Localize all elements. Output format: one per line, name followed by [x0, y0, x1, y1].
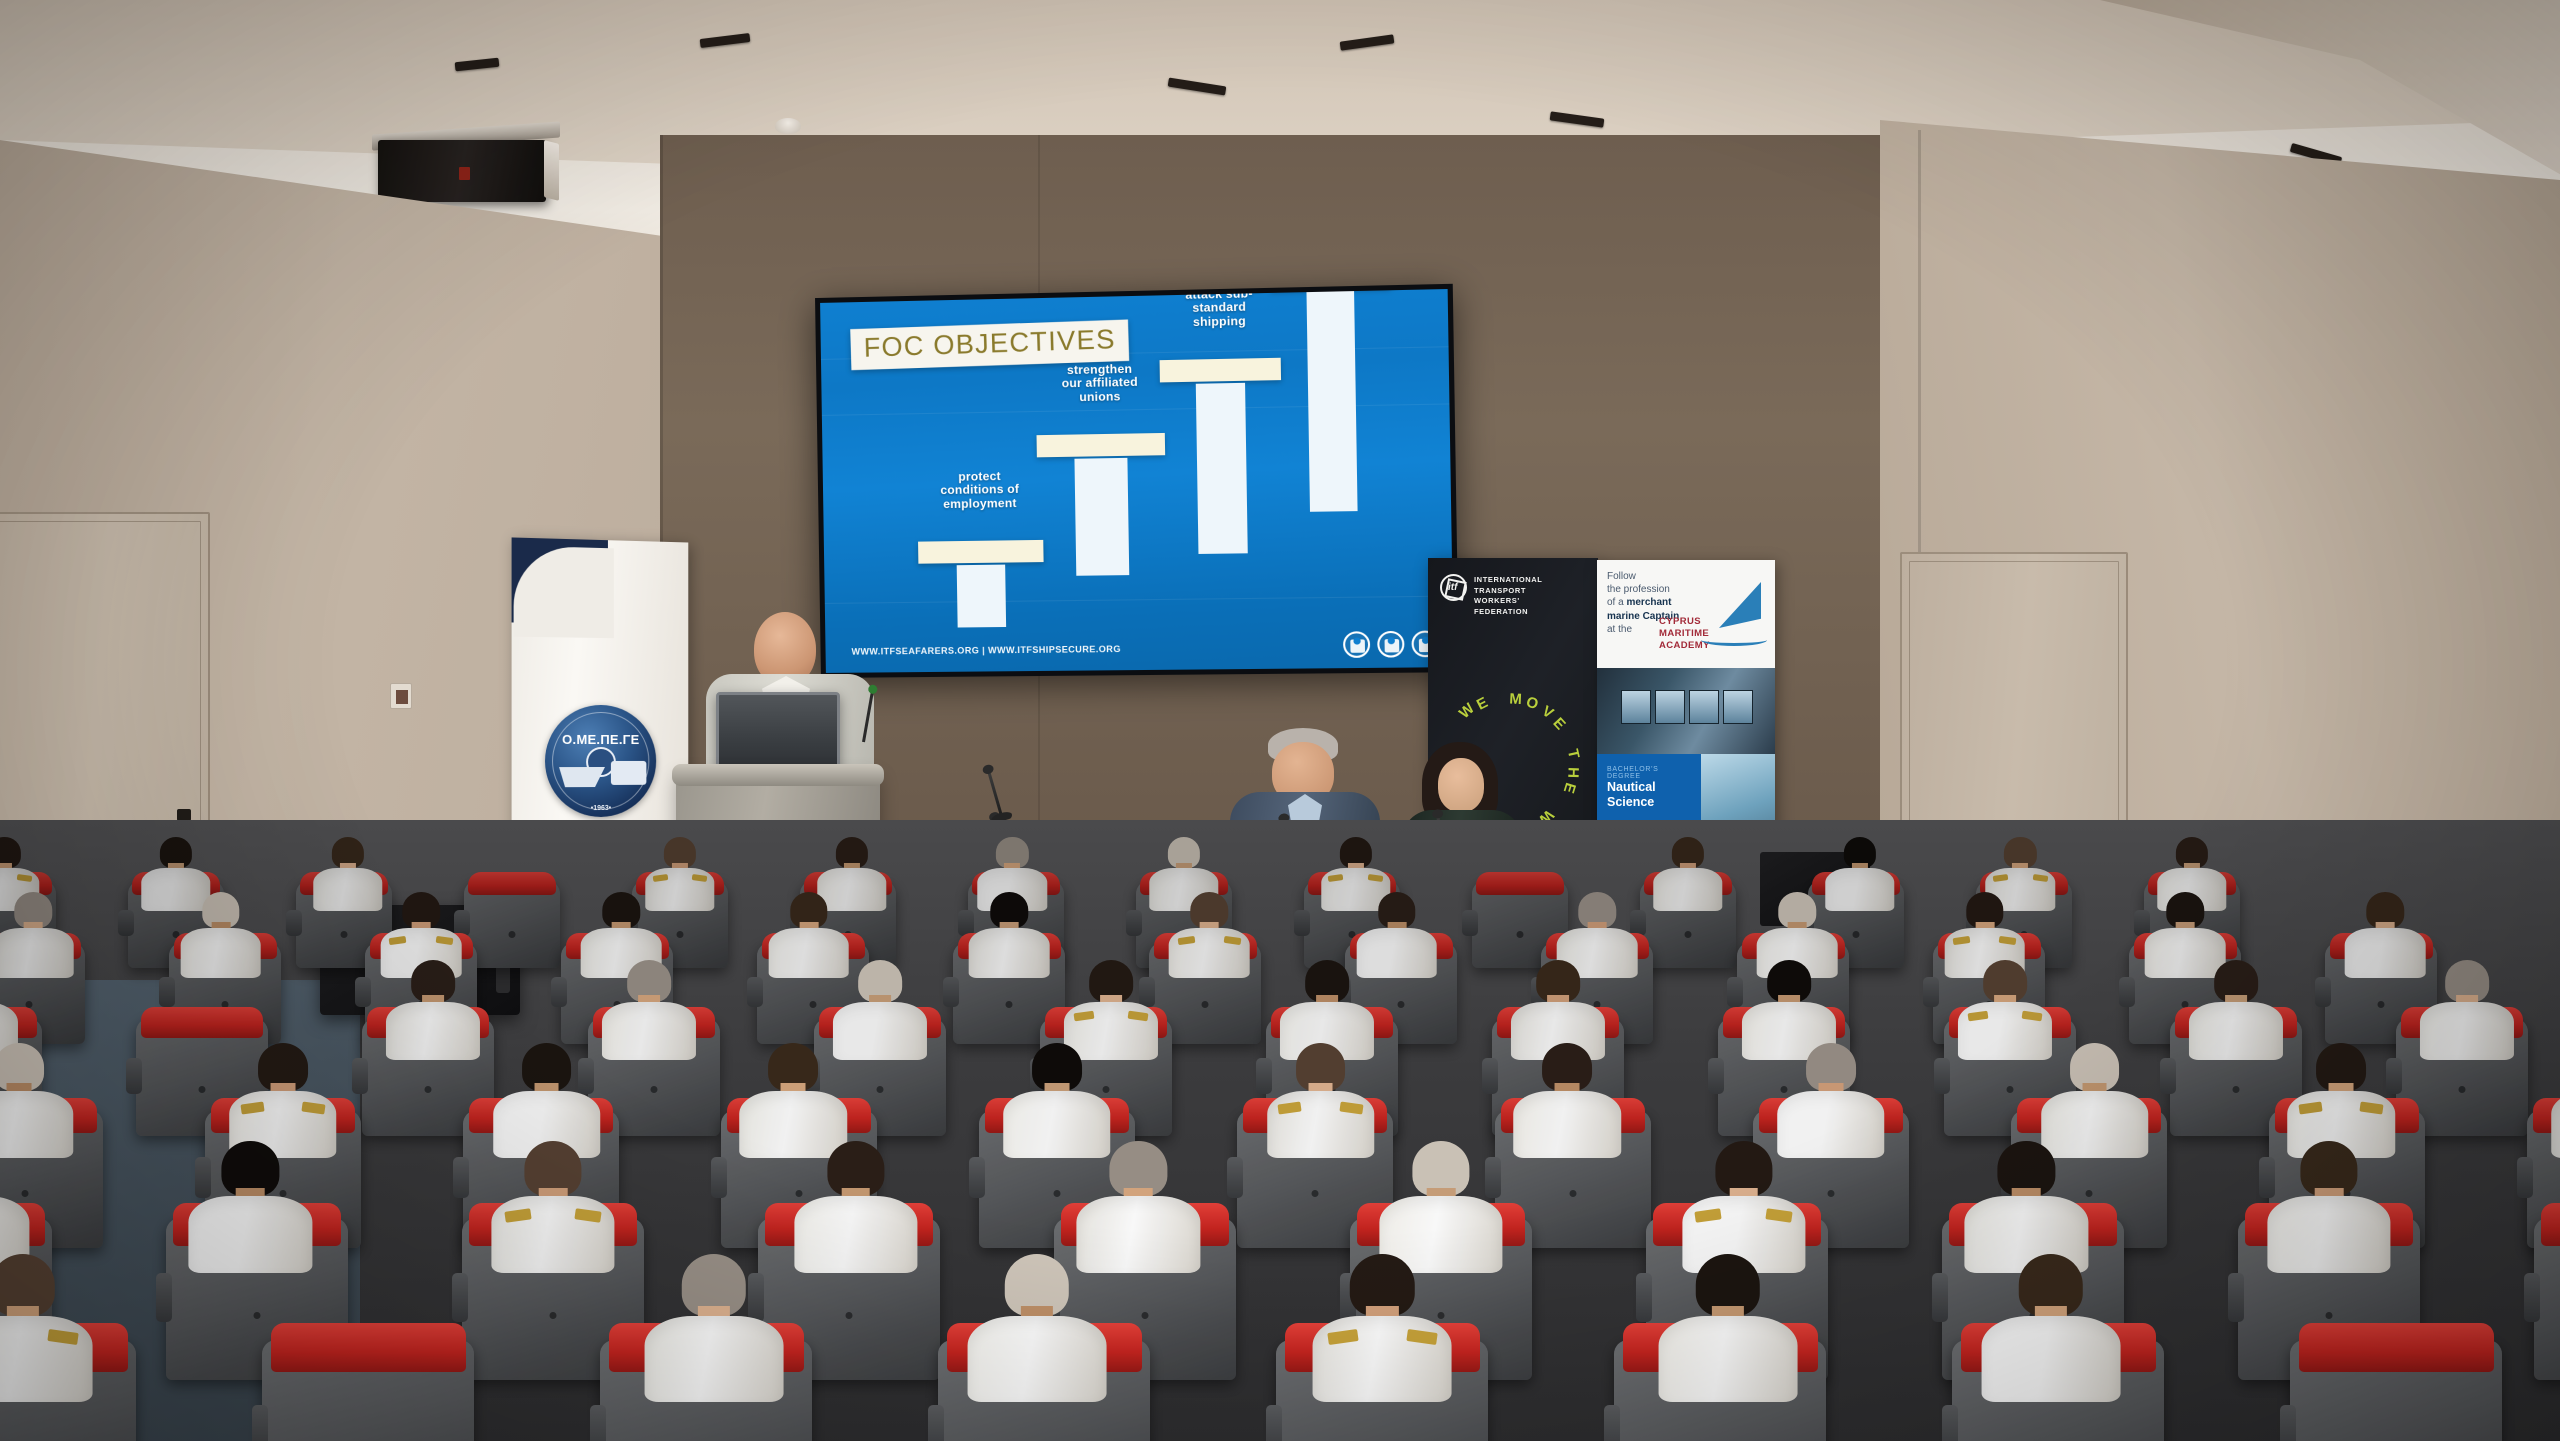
seat-stud-icon — [2233, 1086, 2240, 1093]
seat-armrest — [118, 910, 134, 936]
audience-shirt — [2189, 1002, 2283, 1061]
cyma-bridge-simulator-photo — [1597, 668, 1775, 754]
step-platform — [918, 540, 1044, 564]
seat-armrest — [355, 977, 371, 1008]
projection-screen: FOC OBJECTIVES protect conditions of emp… — [815, 284, 1459, 678]
audience-shirt — [644, 1316, 783, 1403]
audience-shirt — [1169, 928, 1250, 978]
seat-armrest — [747, 977, 763, 1008]
slide-step-1: protect conditions of employment — [911, 373, 1048, 616]
seat-armrest — [1604, 1405, 1620, 1441]
seat-armrest — [1294, 910, 1310, 936]
seat-armrest — [2280, 1405, 2296, 1441]
seat-stud-icon — [1685, 931, 1692, 938]
audience-shirt — [794, 1196, 917, 1273]
itf-slogan-letter: E — [1560, 781, 1579, 796]
audience-member — [1981, 1254, 2120, 1403]
step-arrow-icon — [1306, 291, 1357, 512]
seat-armrest — [1266, 1405, 1282, 1441]
seat-armrest — [2524, 1273, 2540, 1322]
audience-member — [602, 960, 696, 1061]
step-platform — [1160, 358, 1281, 383]
seat-armrest — [1227, 1157, 1243, 1198]
auditorium-photo: FOC OBJECTIVES protect conditions of emp… — [0, 0, 2560, 1441]
audience-member — [2551, 1043, 2560, 1158]
seat-cushion — [271, 1323, 466, 1372]
seat-armrest — [1636, 1273, 1652, 1322]
seat-stud-icon — [1142, 1312, 1149, 1319]
seat-armrest — [551, 977, 567, 1008]
seat-armrest — [2517, 1157, 2533, 1198]
seat-stud-icon — [550, 1312, 557, 1319]
seat-stud-icon — [651, 1086, 658, 1093]
cyma-line-1: Follow — [1607, 570, 1767, 583]
seat-armrest — [943, 977, 959, 1008]
itf-slogan-letter: V — [1539, 702, 1557, 722]
seat-stud-icon — [341, 931, 348, 938]
seat-stud-icon — [2459, 1086, 2466, 1093]
audience-member — [794, 1141, 917, 1273]
audience-member — [2345, 892, 2426, 978]
slide-logo-row — [1343, 630, 1439, 657]
step-label: strengthen our affiliated unions — [1032, 362, 1167, 405]
seat-armrest — [928, 1405, 944, 1441]
seat-armrest — [156, 1273, 172, 1322]
seat-armrest — [1923, 977, 1939, 1008]
audience-member — [644, 1254, 783, 1403]
slide-footer-urls: WWW.ITFSEAFARERS.ORG | WWW.ITFSHIPSECURE… — [851, 644, 1120, 657]
itf-org-name: INTERNATIONAL TRANSPORT WORKERS' FEDERAT… — [1474, 574, 1543, 618]
audience-member — [1267, 1043, 1375, 1158]
cyma-headline-block: Follow the profession of a merchant mari… — [1597, 560, 1775, 668]
seat-stud-icon — [254, 1312, 261, 1319]
seat-stud-icon — [509, 931, 516, 938]
auditorium-seat[interactable] — [464, 880, 560, 968]
seat-armrest — [711, 1157, 727, 1198]
seat-stud-icon — [1569, 1190, 1576, 1197]
seat-armrest — [1482, 1058, 1498, 1093]
audience-shirt — [189, 1196, 312, 1273]
banner-swoosh-graphic — [512, 537, 608, 624]
seat-stud-icon — [1827, 1190, 1834, 1197]
omepege-logo-icon: Ο.ΜΕ.ΠΕ.ΓΕ •1963• — [545, 705, 656, 818]
seat-armrest — [2160, 1058, 2176, 1093]
seat-armrest — [1462, 910, 1478, 936]
seat-stud-icon — [1202, 1001, 1209, 1008]
cyma-line-3b: merchant — [1626, 597, 1671, 608]
audience-member — [1658, 1254, 1797, 1403]
seat-stud-icon — [2326, 1312, 2333, 1319]
audience-shirt — [2551, 1091, 2560, 1158]
audience-member — [491, 1141, 614, 1273]
seat-armrest — [453, 1157, 469, 1198]
audience-member — [1313, 1254, 1452, 1403]
cyma-degree-kicker: BACHELOR'S DEGREE — [1607, 766, 1691, 780]
seat-armrest — [352, 1058, 368, 1093]
cyma-degree-name: Nautical Science — [1607, 780, 1691, 810]
audience-member — [313, 837, 382, 911]
step-label: attack sub- standard shipping — [1155, 289, 1283, 330]
seat-armrest — [252, 1405, 268, 1441]
seat-cushion — [2541, 1203, 2560, 1245]
seat-cushion — [141, 1007, 262, 1038]
audience-member — [180, 892, 261, 978]
seat-armrest — [590, 1405, 606, 1441]
audience-shirt — [180, 928, 261, 978]
step-arrow-icon — [1074, 458, 1129, 576]
audience-member — [189, 1141, 312, 1273]
audience-member — [386, 960, 480, 1061]
audience-shirt — [602, 1002, 696, 1061]
audience-shirt — [1513, 1091, 1621, 1158]
slide-foc-objectives: FOC OBJECTIVES protect conditions of emp… — [820, 289, 1454, 673]
seat-stud-icon — [877, 1086, 884, 1093]
itf-slogan-letter: E — [1550, 714, 1569, 733]
audience-shirt — [491, 1196, 614, 1273]
seat-armrest — [1932, 1273, 1948, 1322]
itf-slogan-letter: H — [1564, 766, 1581, 777]
audience-member — [2189, 960, 2283, 1061]
seat-armrest — [2119, 977, 2135, 1008]
seat-cushion — [468, 872, 556, 895]
itf-logo-lockup: itf INTERNATIONAL TRANSPORT WORKERS' FED… — [1440, 574, 1543, 618]
seat-stud-icon — [2007, 1086, 2014, 1093]
audience-shirt — [2267, 1196, 2390, 1273]
seat-armrest — [1126, 910, 1142, 936]
step-arrow-icon — [1196, 383, 1248, 554]
seat-stud-icon — [1398, 1001, 1405, 1008]
seat-stud-icon — [1517, 931, 1524, 938]
audience-shirt — [2345, 928, 2426, 978]
seat-armrest — [2228, 1273, 2244, 1322]
seat-cushion — [1476, 872, 1564, 895]
audience-member — [0, 1254, 92, 1403]
seat-stud-icon — [199, 1086, 206, 1093]
slide-step-4: eliminate the FOC system — [1265, 289, 1399, 612]
slide-step-2: strengthen our affiliated unions — [1030, 317, 1173, 614]
audience-shirt — [1267, 1091, 1375, 1158]
itf-slogan-letter: W — [1456, 700, 1478, 722]
audience-shirt — [0, 1316, 92, 1403]
seat-armrest — [452, 1273, 468, 1322]
audience-member — [1653, 837, 1722, 911]
seat-stud-icon — [846, 1312, 853, 1319]
omepege-year: •1963• — [591, 805, 611, 812]
seat-armrest — [1727, 977, 1743, 1008]
seat-armrest — [286, 910, 302, 936]
audience-member — [1958, 960, 2052, 1061]
auditorium-seat[interactable] — [2534, 1218, 2560, 1380]
audience-shirt — [833, 1002, 927, 1061]
audience-member — [1169, 892, 1250, 978]
seat-armrest — [126, 1058, 142, 1093]
itf-slogan-letter: O — [1524, 694, 1540, 714]
itf-logo-icon: itf — [1440, 574, 1467, 601]
audience-shirt — [969, 928, 1050, 978]
audience-member — [967, 1254, 1106, 1403]
light-switch[interactable] — [390, 683, 412, 709]
step-arrow-icon — [957, 565, 1006, 628]
audience-shirt — [1958, 1002, 2052, 1061]
itf-slogan-letter: T — [1564, 748, 1583, 761]
step-label: protect conditions of employment — [915, 469, 1045, 512]
cyma-line-2: the profession — [1607, 583, 1767, 596]
seat-armrest — [969, 1157, 985, 1198]
seat-armrest — [1942, 1405, 1958, 1441]
audience-member — [2420, 960, 2514, 1061]
auditorium-seat[interactable] — [262, 1340, 474, 1441]
cyma-line-3a: of a — [1607, 597, 1626, 608]
seat-stud-icon — [1053, 1190, 1060, 1197]
seat-stud-icon — [1311, 1190, 1318, 1197]
itf-slogan-letter: M — [1509, 691, 1522, 709]
audience-shirt — [386, 1002, 480, 1061]
wall-speaker — [378, 140, 546, 202]
seat-stud-icon — [425, 1086, 432, 1093]
seafarer-icon — [1343, 631, 1370, 658]
seat-cushion — [2299, 1323, 2494, 1372]
seat-armrest — [2315, 977, 2331, 1008]
auditorium-seat[interactable] — [2290, 1340, 2502, 1441]
audience-shirt — [2420, 1002, 2514, 1061]
seat-stud-icon — [677, 931, 684, 938]
audience-member — [833, 960, 927, 1061]
seat-stud-icon — [1853, 931, 1860, 938]
seat-armrest — [1708, 1058, 1724, 1093]
truck-glyph-icon — [611, 761, 646, 785]
smoke-detector-icon — [775, 118, 801, 134]
seat-stud-icon — [810, 1001, 817, 1008]
audience-shirt — [1981, 1316, 2120, 1403]
audience-shirt — [1653, 868, 1722, 911]
audience-shirt — [967, 1316, 1106, 1403]
audience-shirt — [313, 868, 382, 911]
audience-shirt — [1313, 1316, 1452, 1403]
audience-shirt — [1658, 1316, 1797, 1403]
omepege-acronym: Ο.ΜΕ.ΠΕ.ΓΕ — [562, 732, 639, 747]
audience-member — [1513, 1043, 1621, 1158]
inspector-icon — [1377, 631, 1404, 658]
seat-armrest — [159, 977, 175, 1008]
audience-member — [969, 892, 1050, 978]
seat-stud-icon — [1006, 1001, 1013, 1008]
seat-armrest — [1934, 1058, 1950, 1093]
audience-member — [2267, 1141, 2390, 1273]
seat-stud-icon — [2378, 1001, 2385, 1008]
step-platform — [1037, 433, 1166, 457]
wave-logo-icon — [1701, 634, 1767, 646]
